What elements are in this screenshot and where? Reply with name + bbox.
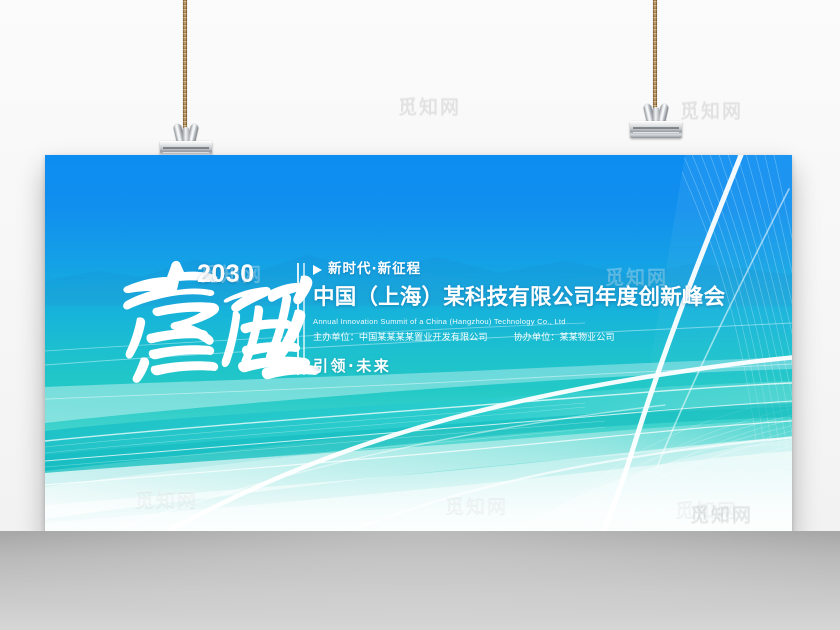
banner-text-block: 新时代·新征程 中国（上海）某科技有限公司年度创新峰会 Annual Innov… bbox=[313, 263, 753, 376]
hanging-rope bbox=[183, 0, 187, 134]
year-label: 2030 bbox=[197, 260, 255, 289]
binder-clip-icon bbox=[630, 104, 682, 138]
kicker-label: 新时代·新征程 bbox=[328, 263, 421, 277]
event-subline-english: Annual Innovation Summit of a China (Han… bbox=[313, 317, 753, 326]
event-banner: 2030 新时代·新征程 中国（上海）某科技有限公司年度创新峰会 Annual … bbox=[45, 155, 792, 533]
host-organization: 主办单位：中国某某某某置业开发有限公司 bbox=[313, 332, 488, 344]
slogan-label: 引领·未来 bbox=[313, 355, 753, 376]
play-triangle-icon bbox=[313, 265, 322, 275]
organizer-line: 主办单位：中国某某某某置业开发有限公司 协办单位：某某物业公司 bbox=[313, 332, 753, 344]
event-headline: 中国（上海）某科技有限公司年度创新峰会 bbox=[313, 286, 753, 310]
co-organization: 协办单位：某某物业公司 bbox=[514, 332, 615, 344]
kicker-line: 新时代·新征程 bbox=[313, 263, 753, 277]
binder-clip-icon bbox=[160, 124, 212, 158]
hanging-rope bbox=[653, 0, 657, 112]
divider-rule-primary bbox=[297, 263, 299, 375]
scene-stage: 觅知网 觅知网 觅知网 bbox=[0, 0, 840, 630]
floor-highlight bbox=[0, 531, 840, 630]
clip-body bbox=[630, 121, 682, 138]
divider-rule-secondary bbox=[303, 263, 305, 375]
